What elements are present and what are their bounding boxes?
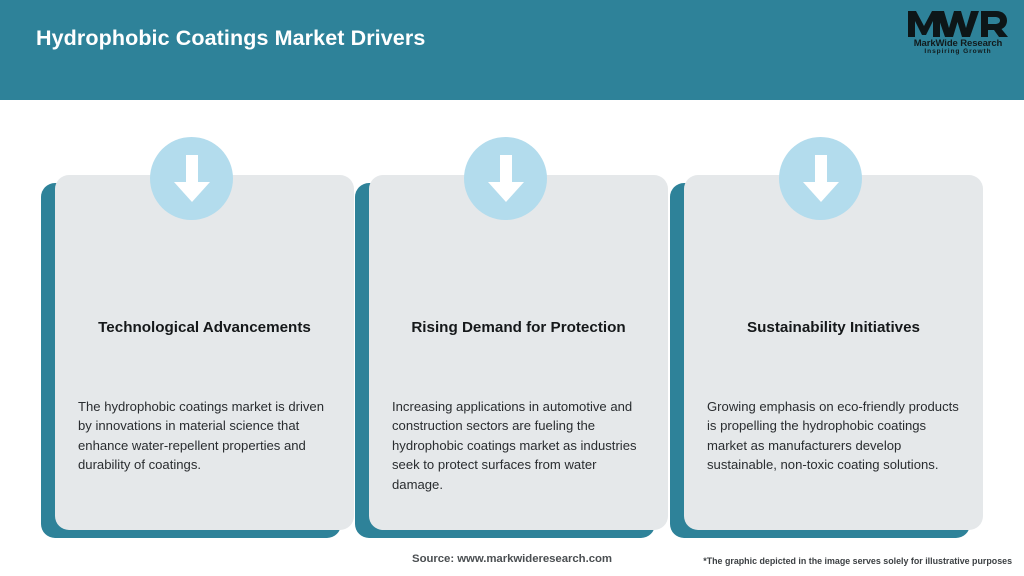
down-arrow-icon — [150, 137, 233, 220]
card-title: Sustainability Initiatives — [702, 318, 965, 337]
card-body-text: The hydrophobic coatings market is drive… — [78, 397, 336, 475]
driver-card-2: Rising Demand for Protection Increasing … — [355, 100, 668, 540]
disclaimer-label: *The graphic depicted in the image serve… — [703, 556, 1012, 566]
card-body-text: Increasing applications in automotive an… — [392, 397, 650, 494]
card-title: Technological Advancements — [73, 318, 336, 337]
card-title: Rising Demand for Protection — [387, 318, 650, 337]
driver-cards-container: Technological Advancements The hydrophob… — [0, 100, 1024, 540]
card-surface: Technological Advancements The hydrophob… — [55, 175, 354, 530]
page-title: Hydrophobic Coatings Market Drivers — [36, 26, 425, 51]
page-header: Hydrophobic Coatings Market Drivers Mark… — [0, 0, 1024, 100]
driver-card-1: Technological Advancements The hydrophob… — [41, 100, 354, 540]
down-arrow-icon — [464, 137, 547, 220]
card-surface: Rising Demand for Protection Increasing … — [369, 175, 668, 530]
driver-card-3: Sustainability Initiatives Growing empha… — [670, 100, 983, 540]
card-surface: Sustainability Initiatives Growing empha… — [684, 175, 983, 530]
down-arrow-icon — [779, 137, 862, 220]
markwide-research-logo-icon — [906, 8, 1010, 39]
logo: MarkWide Research Inspiring Growth — [906, 8, 1010, 60]
card-body-text: Growing emphasis on eco-friendly product… — [707, 397, 965, 475]
logo-tagline: Inspiring Growth — [906, 48, 1010, 55]
